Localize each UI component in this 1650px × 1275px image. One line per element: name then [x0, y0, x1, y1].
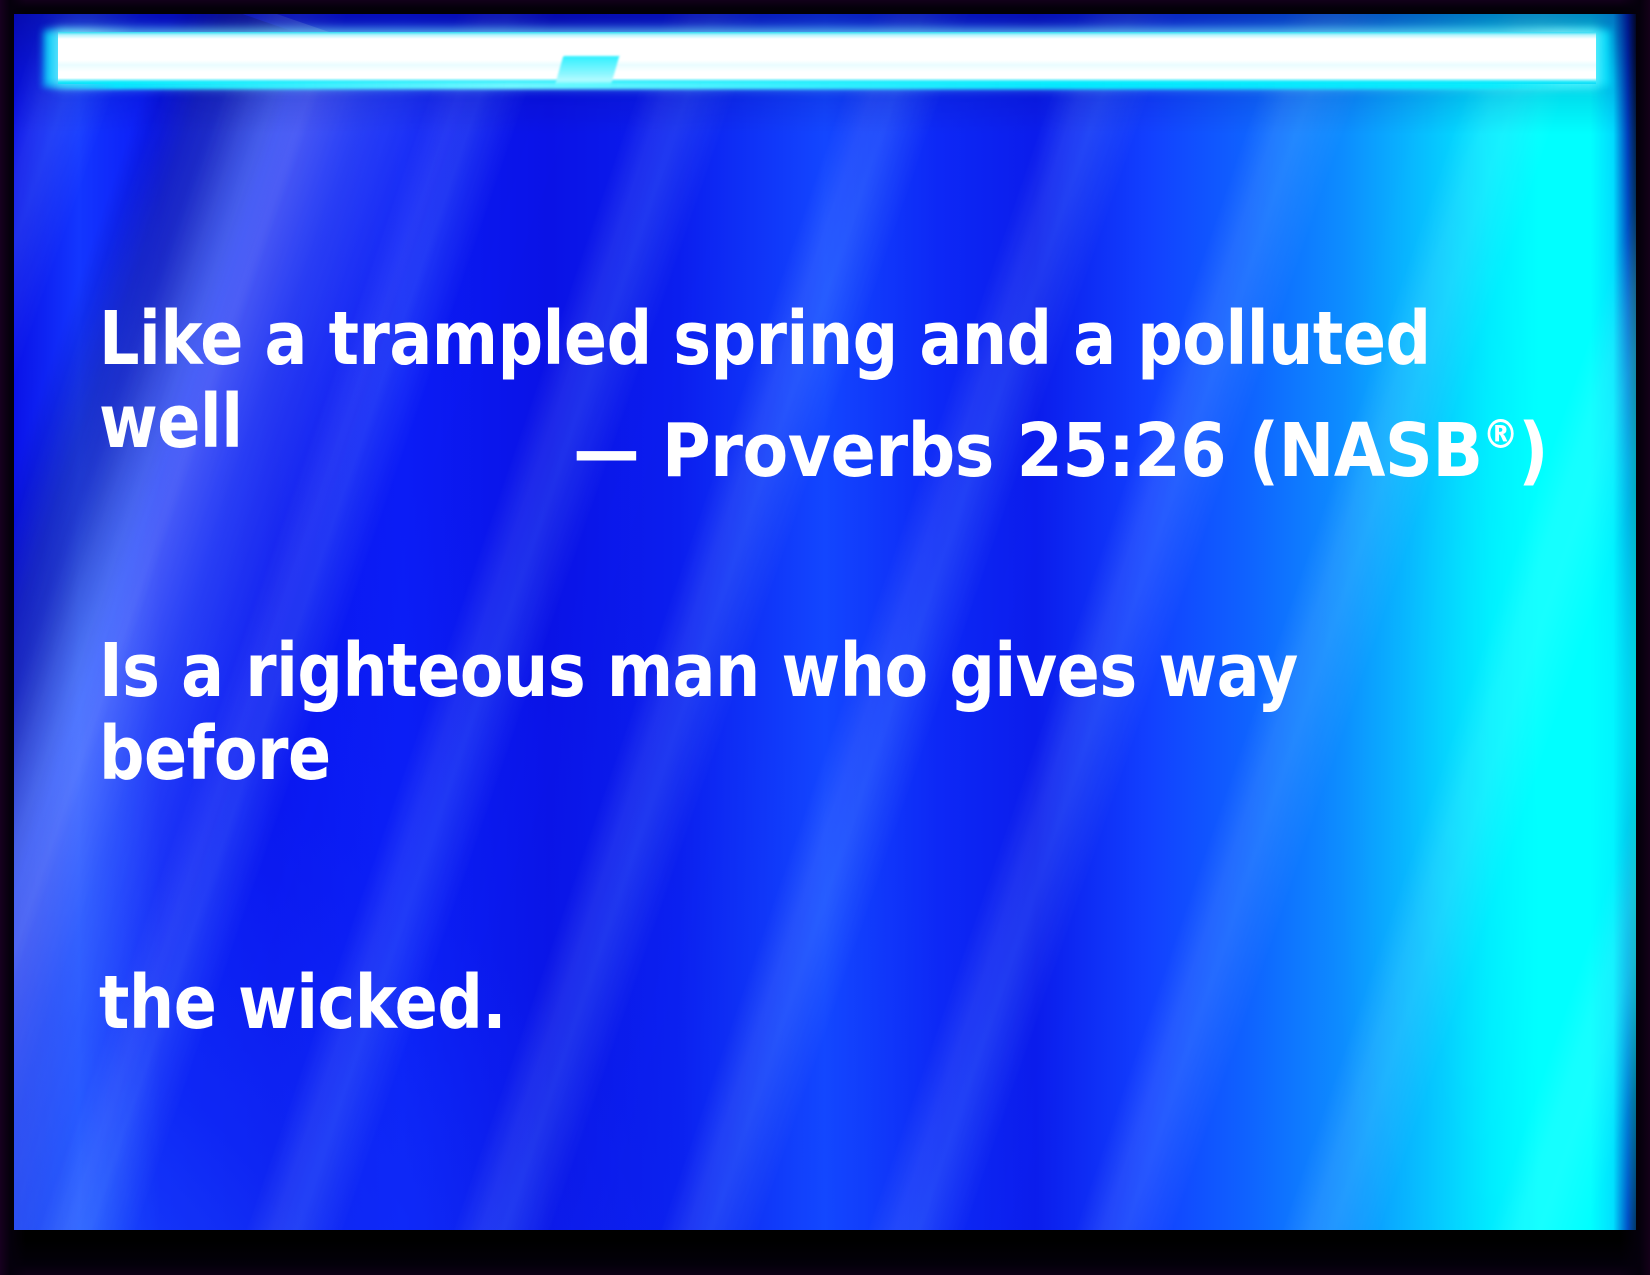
attribution-reference: 25:26: [1017, 408, 1226, 494]
verse-text: Like a trampled spring and a polluted we…: [99, 132, 1493, 1211]
verse-line-2: Is a righteous man who gives way before: [99, 630, 1493, 796]
scripture-slide: Like a trampled spring and a polluted we…: [0, 0, 1650, 1275]
attribution-book: Proverbs: [662, 408, 994, 494]
slide-artwork: Like a trampled spring and a polluted we…: [14, 14, 1636, 1230]
attribution-version-open: (NASB: [1249, 408, 1483, 494]
attribution-version-close: ): [1518, 408, 1548, 494]
attribution-dash: —: [573, 408, 639, 494]
background-top-shade: [14, 14, 1636, 134]
verse-attribution: — Proverbs 25:26 (NASB®): [14, 394, 1548, 493]
verse-line-3: the wicked.: [99, 962, 1493, 1045]
registered-trademark-icon: ®: [1483, 412, 1519, 458]
